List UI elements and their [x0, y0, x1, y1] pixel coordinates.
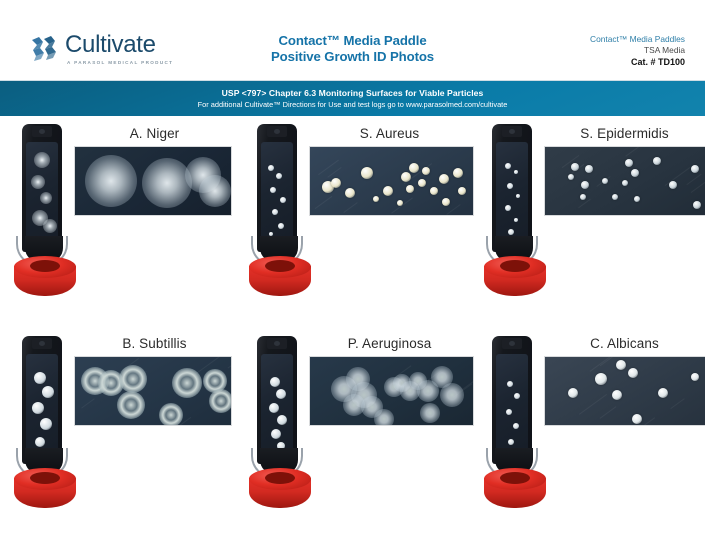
specimen-card-p-aeruginosa: P. Aeruginosa [235, 330, 470, 538]
specimen-card-b-subtillis: B. Subtillis [0, 330, 235, 538]
product-catalog-number: Cat. # TD100 [590, 56, 685, 68]
specimen-card-s-aureus: S. Aureus [235, 122, 470, 330]
specimen-label: B. Subtillis [78, 336, 231, 351]
specimen-label: P. Aeruginosa [313, 336, 466, 351]
specimen-row-1: A. Niger S. Aureus [0, 122, 705, 330]
usp-reference-banner: USP <797> Chapter 6.3 Monitoring Surface… [0, 80, 705, 116]
colony-growth-photo [74, 356, 232, 426]
specimen-card-s-epidermidis: S. Epidermidis [470, 122, 705, 330]
colony-growth-photo [309, 356, 474, 426]
specimen-row-2: B. Subtillis P. Aeruginosa [0, 330, 705, 538]
contact-media-paddle-device [484, 336, 546, 514]
specimen-label: S. Aureus [313, 126, 466, 141]
specimen-label: C. Albicans [548, 336, 701, 351]
page-header: Cultivate A PARASOL MEDICAL PRODUCT Cont… [0, 0, 705, 80]
contact-media-paddle-device [484, 124, 546, 302]
specimen-card-c-albicans: C. Albicans [470, 330, 705, 538]
product-media-type: TSA Media [590, 45, 685, 56]
colony-growth-photo [544, 356, 705, 426]
specimen-grid: A. Niger S. Aureus [0, 116, 705, 538]
contact-media-paddle-device [249, 336, 311, 514]
colony-growth-photo [309, 146, 474, 216]
banner-subtext: For additional Cultivate™ Directions for… [198, 99, 508, 110]
contact-media-paddle-device [14, 336, 76, 514]
product-info: Contact™ Media Paddles TSA Media Cat. # … [590, 34, 685, 68]
product-name: Contact™ Media Paddles [590, 34, 685, 45]
colony-growth-photo [74, 146, 232, 216]
product-reference-sheet: Cultivate A PARASOL MEDICAL PRODUCT Cont… [0, 0, 705, 545]
contact-media-paddle-device [14, 124, 76, 302]
colony-growth-photo [544, 146, 705, 216]
banner-headline: USP <797> Chapter 6.3 Monitoring Surface… [222, 87, 484, 99]
specimen-label: A. Niger [78, 126, 231, 141]
specimen-label: S. Epidermidis [548, 126, 701, 141]
specimen-card-a-niger: A. Niger [0, 122, 235, 330]
contact-media-paddle-device [249, 124, 311, 302]
